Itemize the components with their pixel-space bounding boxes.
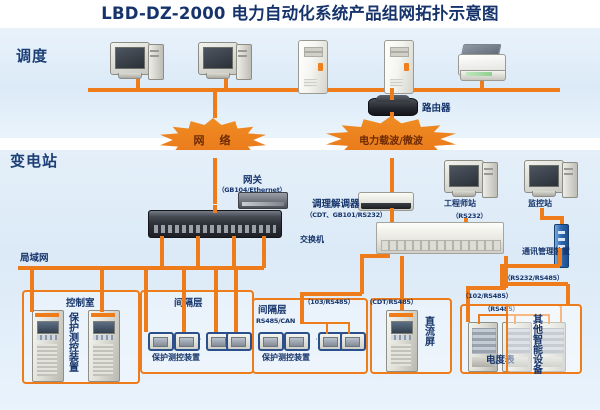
bay-layer-2-device-label: 保护测控装置: [262, 352, 310, 363]
monitor-station: [524, 160, 578, 198]
other-smart-devices-title: 其他智能设备: [530, 314, 542, 374]
wire-lan-to-ied-1-1: [144, 266, 148, 332]
modem-protocol-label: （CDT、GB101/RS232）: [306, 209, 386, 219]
topology-diagram: LBD-DZ-2000 电力自动化系统产品组网拓扑示意图 调度: [0, 0, 600, 410]
dispatch-zone-label: 调度: [16, 45, 48, 66]
control-room-device-label: 保护测控装置: [66, 312, 78, 372]
dispatch-server-1: [298, 40, 328, 94]
wire-gateway-to-switch: [213, 205, 217, 213]
substation-zone-label: 变电站: [10, 150, 58, 171]
ied-2-4: [340, 332, 366, 351]
bay-layer-1-title: 间隔层: [174, 295, 203, 309]
switch-device: [148, 210, 282, 238]
wire-to-other-devices: [566, 284, 570, 306]
protocol-102-rs485: （102/RS485）: [462, 290, 512, 300]
bay-layer-2-title: 间隔层: [258, 302, 287, 316]
monitor-icon: [524, 160, 564, 193]
wire-switch-to-lan-2: [196, 236, 200, 268]
protection-cabinet-2: [88, 310, 120, 382]
wire-network-to-gateway: [213, 158, 217, 204]
monitor-icon: [110, 42, 150, 75]
wire-meter-drop-1: [478, 314, 480, 324]
rs485-can-label: RS485/CAN: [256, 317, 295, 325]
router-label: 路由器: [422, 100, 451, 114]
wire-switch-to-lan-1: [160, 236, 164, 268]
wire-bay2-drop-4: [348, 322, 350, 334]
gateway-device: [238, 192, 288, 209]
wire-iorack-elbow-1: [360, 254, 390, 258]
bay-layer-2-bus: [300, 322, 350, 324]
wire-carrier-to-modem: [390, 158, 394, 196]
wire-bus-to-network-burst: [213, 88, 217, 118]
control-room-title: 控制室: [66, 295, 95, 309]
engineer-station-label: 工程师站: [444, 198, 476, 209]
ied-2-1: [258, 332, 284, 351]
wire-iorack-to-bay2: [360, 256, 364, 294]
engineer-station: [444, 160, 498, 198]
wire-rs232-rs485-top: [500, 282, 568, 286]
wire-lan-to-ied-1-3: [214, 266, 218, 332]
wire-switch-to-lan-4: [262, 236, 266, 268]
power-led-icon: [404, 63, 409, 71]
bay-layer-1-device-label: 保护测控装置: [152, 352, 200, 363]
power-led-icon: [318, 63, 323, 71]
dispatch-workstation-2: [198, 42, 252, 80]
dispatch-server-2: [384, 40, 414, 94]
modem-label: 调理解调器: [312, 196, 360, 210]
wire-lan-to-ied-1-2: [182, 266, 186, 332]
protection-cabinet-1: [32, 310, 64, 382]
group-other-smart-devices: [506, 304, 582, 374]
page-title: LBD-DZ-2000 电力自动化系统产品组网拓扑示意图: [0, 1, 600, 27]
wire-lan-to-control-room-2: [100, 266, 104, 312]
dispatch-printer: [458, 42, 506, 80]
protocol-cdt-rs485: （CDT/RS485）: [366, 296, 417, 306]
monitor-icon: [198, 42, 238, 75]
wire-comms-elbow: [500, 264, 560, 268]
ied-1-1: [148, 332, 174, 351]
wire-lan-to-ied-1-4: [234, 266, 238, 332]
lan-label: 局域网: [20, 250, 49, 264]
wire-comms-down: [558, 248, 562, 266]
dc-panel-title: 直流屏: [422, 316, 434, 346]
engineer-station-protocol: （RS232）: [452, 210, 487, 220]
wire-lan-to-control-room-1: [30, 266, 34, 312]
wire-bay2-drop-3: [326, 322, 328, 334]
wire-switch-to-lan-3: [232, 236, 236, 268]
dispatch-workstation-1: [110, 42, 164, 80]
switch-label: 交换机: [300, 234, 324, 245]
monitor-icon: [444, 160, 484, 193]
ied-1-4: [226, 332, 252, 351]
wire-bus-to-router: [390, 88, 394, 100]
protocol-rs232-rs485: （RS232/RS485）: [504, 272, 563, 282]
protocol-103-rs485: （103/RS485）: [304, 296, 354, 306]
comms-manager-label: 通讯管理装置: [522, 246, 570, 257]
lan-bus: [18, 266, 264, 270]
io-terminal-rack: [376, 222, 504, 254]
drop-printer: [480, 80, 484, 90]
dc-panel-cabinet: [386, 310, 418, 372]
